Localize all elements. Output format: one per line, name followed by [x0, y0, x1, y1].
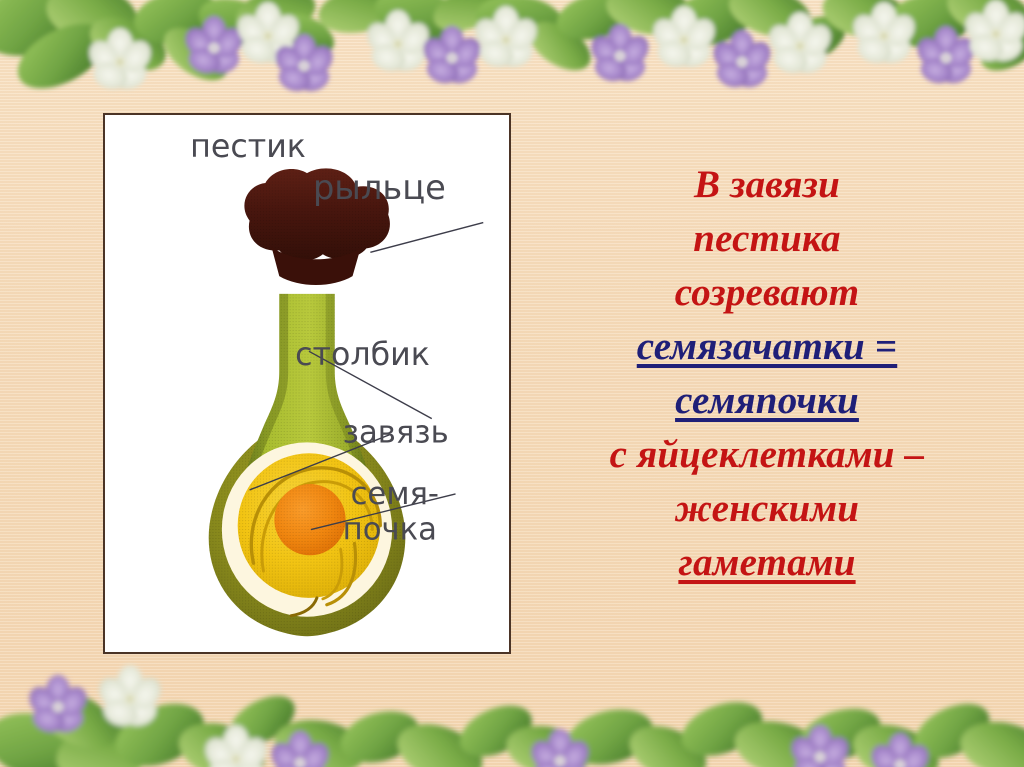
diagram-label-style: столбик — [295, 337, 430, 373]
text-line-5: семяпочки — [675, 374, 859, 428]
explanatory-text: В завязи пестика созревают семязачатки =… — [524, 158, 1010, 628]
pistil-diagram-panel: пестик рыльце столбик завязь семя- почка — [103, 113, 511, 654]
floral-border-top — [0, 0, 1024, 112]
text-line-3: созревают — [675, 266, 860, 320]
slide-root: пестик рыльце столбик завязь семя- почка… — [0, 0, 1024, 767]
diagram-label-ovary: завязь — [343, 415, 449, 450]
text-line-6: с яйцеклетками – — [610, 428, 925, 482]
text-line-2: пестика — [693, 212, 841, 266]
text-line-4: семязачатки = — [637, 320, 897, 374]
diagram-label-ovule-line1: семя- — [351, 477, 439, 512]
diagram-label-pistil: пестик — [190, 129, 306, 165]
text-line-7: женскими — [675, 482, 859, 536]
text-line-1: В завязи — [694, 158, 840, 212]
diagram-label-stigma: рыльце — [313, 168, 446, 207]
egg-cell-shape — [274, 484, 345, 555]
diagram-label-ovule-line2: почка — [343, 512, 437, 547]
floral-border-bottom — [0, 655, 1024, 767]
text-line-8: гаметами — [678, 536, 855, 590]
